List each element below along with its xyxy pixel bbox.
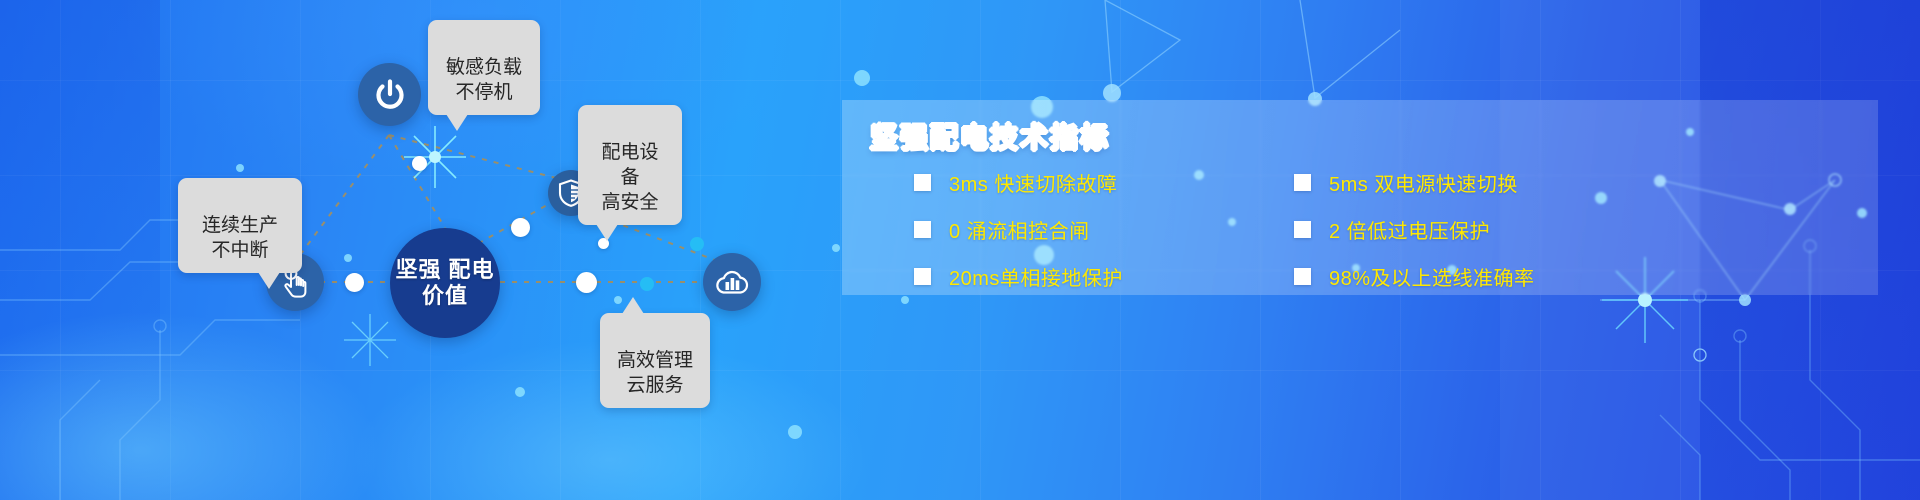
callout-power-label: 敏感负载 不停机 <box>446 57 522 103</box>
power-button-icon <box>373 78 407 112</box>
callout-touch-label: 连续生产 不中断 <box>202 215 278 261</box>
panel-title: 坚强配电技术指标 <box>870 116 1110 156</box>
bullet-square-icon <box>914 174 931 191</box>
indicator-label: 5ms 双电源快速切换 <box>1329 168 1518 197</box>
indicator-label: 98%及以上选线准确率 <box>1329 262 1535 291</box>
callout-shield: 配电设备 高安全 <box>578 105 682 225</box>
indicator-list: 3ms 快速切除故障 5ms 双电源快速切换 0 涌流相控合闸 2 倍低过电压保… <box>914 168 1854 291</box>
indicator-label: 20ms单相接地保护 <box>949 262 1123 291</box>
connector-dot-4 <box>576 272 597 293</box>
connector-dot-5 <box>640 277 654 291</box>
bullet-square-icon <box>914 268 931 285</box>
cloud-chart-icon <box>714 268 750 296</box>
callout-power: 敏感负载 不停机 <box>428 20 540 115</box>
bullet-square-icon <box>1294 268 1311 285</box>
callout-shield-label: 配电设备 高安全 <box>601 142 658 213</box>
node-power[interactable] <box>358 63 421 126</box>
indicator-item: 3ms 快速切除故障 <box>914 168 1274 197</box>
indicator-item: 5ms 双电源快速切换 <box>1294 168 1854 197</box>
bullet-square-icon <box>914 221 931 238</box>
glow-bottom-left <box>0 300 400 500</box>
callout-cloud-label: 高效管理 云服务 <box>617 350 693 396</box>
indicator-label: 2 倍低过电压保护 <box>1329 215 1490 244</box>
indicator-item: 98%及以上选线准确率 <box>1294 262 1854 291</box>
background-block-1 <box>0 0 160 500</box>
callout-touch: 连续生产 不中断 <box>178 178 302 273</box>
callout-cloud: 高效管理 云服务 <box>600 313 710 408</box>
indicator-item: 0 涌流相控合闸 <box>914 215 1274 244</box>
indicator-item: 20ms单相接地保护 <box>914 262 1274 291</box>
sparkle-star-2 <box>340 310 400 370</box>
connector-dot-2 <box>511 218 530 237</box>
bullet-square-icon <box>1294 221 1311 238</box>
connector-dot-1 <box>412 156 427 171</box>
indicator-label: 0 涌流相控合闸 <box>949 215 1090 244</box>
indicator-label: 3ms 快速切除故障 <box>949 168 1117 197</box>
tech-indicator-panel: 坚强配电技术指标 3ms 快速切除故障 5ms 双电源快速切换 0 涌流相控合闸… <box>842 100 1878 295</box>
connector-dot-3 <box>345 273 364 292</box>
connector-dot-6 <box>690 237 704 251</box>
sparkle-star-1 <box>400 122 470 192</box>
center-node-label: 坚强 配电 价值 <box>390 257 500 308</box>
bullet-square-icon <box>1294 174 1311 191</box>
node-cloud[interactable] <box>703 253 761 311</box>
node-center-value[interactable]: 坚强 配电 价值 <box>390 228 500 338</box>
banner-root: 坚强 配电 价值 敏感负载 不停机 配电设备 高安全 连续生产 不中断 高效管理… <box>0 0 1920 500</box>
indicator-item: 2 倍低过电压保护 <box>1294 215 1854 244</box>
